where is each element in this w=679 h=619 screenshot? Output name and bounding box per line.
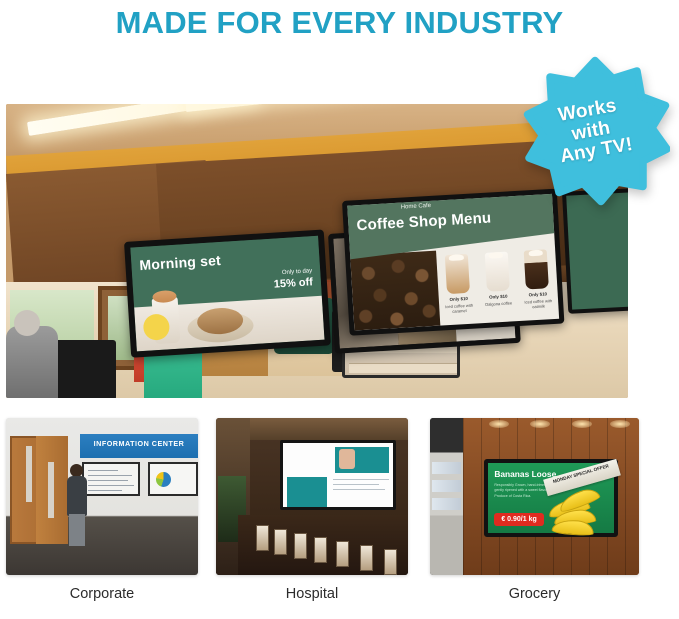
menu-item: Only $10 Iced coffee with oatmilk <box>515 244 559 321</box>
thumbnail-corporate[interactable]: INFORMATION CENTER <box>6 418 198 575</box>
screen-accent-block <box>287 477 327 507</box>
lobby-display-left <box>82 462 140 496</box>
pie-chart-graphic <box>156 472 171 487</box>
morning-set-offer: 15% off <box>273 276 313 290</box>
caption-hospital: Hospital <box>216 586 408 602</box>
text-line <box>333 489 385 490</box>
caption-corporate: Corporate <box>6 586 198 602</box>
person-body <box>67 476 87 516</box>
page-title: MADE FOR EVERY INDUSTRY <box>0 0 679 46</box>
door-window <box>48 462 54 518</box>
menu-items: Only $10 Iced coffee with caramel Only $… <box>436 244 559 326</box>
person-legs <box>69 514 85 546</box>
shelf <box>432 498 461 510</box>
ceiling-spotlight <box>610 420 630 428</box>
menu-item-desc: Iced coffee with oatmilk <box>518 298 558 311</box>
brochure <box>314 537 327 563</box>
screen-content: Morning set Only to day 15% off <box>130 236 324 352</box>
brochure <box>294 533 307 559</box>
text-line <box>88 490 122 491</box>
store-aisle <box>430 418 463 575</box>
hospital-wall-display <box>280 440 396 510</box>
menu-item: Only $10 Iced coffee with caramel <box>436 248 480 325</box>
menu-item-desc: Dalgona coffee <box>479 300 519 307</box>
lobby-display-right <box>148 462 198 496</box>
ceiling-spotlight <box>572 420 592 428</box>
text-line <box>333 479 389 480</box>
drink-glass <box>445 253 470 293</box>
shelf <box>432 462 461 474</box>
brochure <box>360 545 373 571</box>
menu-item: Only $10 Dalgona coffee <box>476 246 520 323</box>
text-line <box>333 484 379 485</box>
text-line <box>88 475 132 476</box>
information-center-banner: INFORMATION CENTER <box>80 434 198 458</box>
brochure <box>336 541 349 567</box>
menu-item-price: Only $10 <box>478 293 518 300</box>
wooden-door-right <box>36 436 68 544</box>
drink-glass <box>484 251 509 291</box>
visitor-person <box>66 464 88 546</box>
price-badge: € 0.90/1 kg <box>494 513 543 526</box>
brochure <box>274 529 287 555</box>
information-center-label: INFORMATION CENTER <box>80 439 198 448</box>
menu-item-desc: Iced coffee with caramel <box>439 302 479 315</box>
product-title: Bananas Loose <box>494 469 556 479</box>
whipped-cream <box>489 251 504 258</box>
pastry-tray <box>349 363 457 373</box>
menu-item-price: Only $10 <box>439 295 479 302</box>
text-line <box>88 480 128 481</box>
thumbnail-hospital[interactable] <box>216 418 408 575</box>
brochure <box>256 525 269 551</box>
screen-content: Only $10 Iced coffee with caramel Only $… <box>347 194 559 331</box>
coffee-beans-photo <box>350 251 440 331</box>
thumbnail-row: INFORMATION CENTER <box>6 418 673 578</box>
works-with-any-tv-badge: Works with Any TV! <box>520 56 670 206</box>
customer <box>6 326 58 398</box>
ceiling-spotlight <box>489 420 509 428</box>
whipped-cream <box>449 254 464 261</box>
digital-signage-display-coffee-shop-menu: Only $10 Iced coffee with caramel Only $… <box>342 189 564 336</box>
whipped-cream <box>528 249 543 256</box>
door-window <box>26 446 32 502</box>
caption-row: Corporate Hospital Grocery <box>6 586 673 612</box>
digital-signage-display-morning-set: Morning set Only to day 15% off <box>124 229 331 357</box>
menu-item-price: Only $10 <box>518 290 558 297</box>
thumbnail-grocery[interactable]: Bananas Loose Responsibly Grown, hand-tr… <box>430 418 639 575</box>
badge-text: Works with Any TV! <box>508 44 679 218</box>
text-line <box>88 485 134 486</box>
caption-grocery: Grocery <box>430 586 639 602</box>
badge-line-3: Any TV! <box>559 135 635 168</box>
brochure <box>384 549 397 575</box>
grocery-price-display: Bananas Loose Responsibly Grown, hand-tr… <box>484 459 618 538</box>
customer-head <box>14 310 40 336</box>
drink-glass <box>524 249 549 289</box>
doctor-photo <box>339 449 355 469</box>
register <box>54 340 116 398</box>
shelf <box>432 480 461 492</box>
text-line <box>88 470 118 471</box>
